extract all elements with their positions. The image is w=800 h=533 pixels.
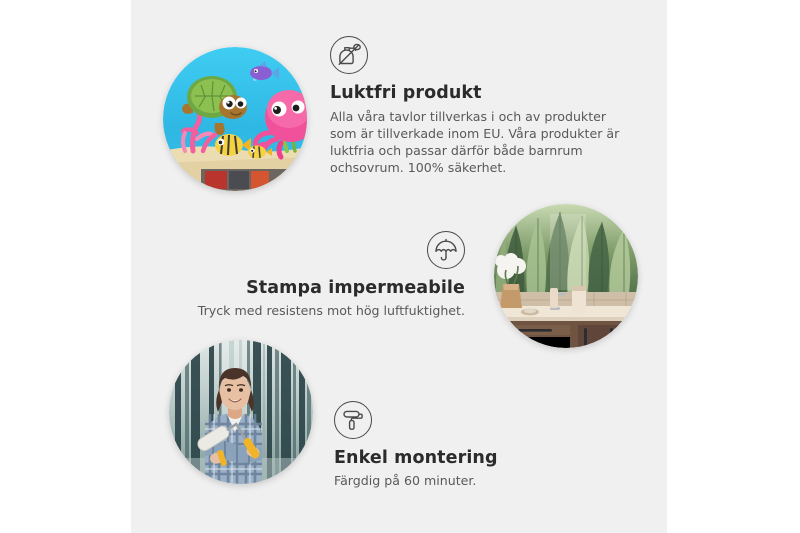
feature-easy-mounting: Enkel montering Färgdig på 60 minuter. (334, 401, 594, 489)
feature-scent-free-title: Luktfri produkt (330, 83, 630, 103)
feature-waterproof-body: Tryck med resistens mot hög luftfuktighe… (198, 302, 465, 319)
feature-scent-free: Luktfri produkt Alla våra tavlor tillver… (330, 36, 630, 176)
painter-photo (169, 340, 313, 484)
no-fragrance-icon (330, 36, 368, 74)
feature-easy-mounting-title: Enkel montering (334, 448, 594, 468)
product-info-banner: Luktfri produkt Alla våra tavlor tillver… (0, 0, 800, 533)
paint-roller-icon (334, 401, 372, 439)
feature-waterproof: Stampa impermeabile Tryck med resistens … (185, 231, 465, 319)
photo-bathroom (494, 204, 638, 348)
photo-painter (169, 340, 313, 484)
umbrella-icon (427, 231, 465, 269)
feature-easy-mounting-body: Färgdig på 60 minuter. (334, 472, 594, 489)
underwater-illustration (163, 47, 307, 191)
bathroom-photo (494, 204, 638, 348)
feature-scent-free-body: Alla våra tavlor tillverkas i och av pro… (330, 108, 630, 176)
feature-waterproof-title: Stampa impermeabile (246, 278, 465, 298)
photo-underwater (163, 47, 307, 191)
